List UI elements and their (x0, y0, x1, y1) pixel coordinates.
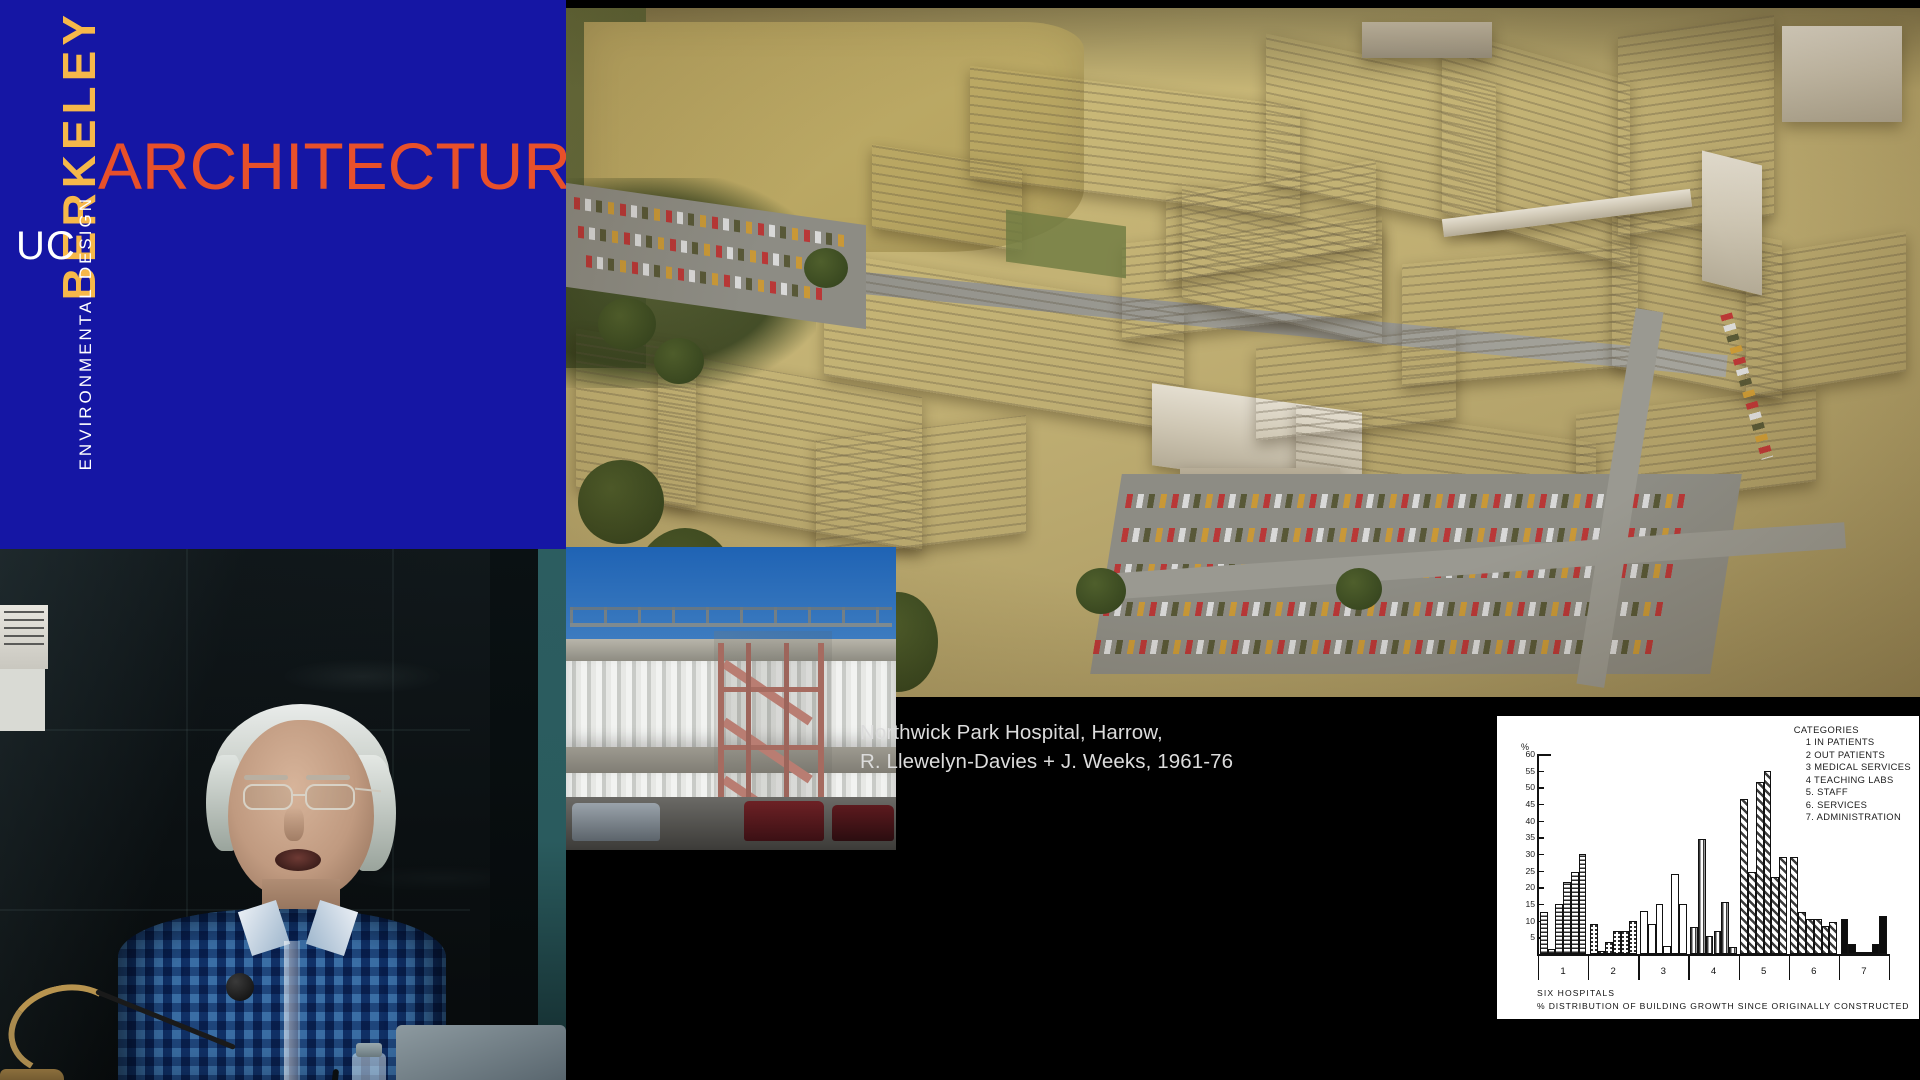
x-tick-label-1: 1 (1552, 966, 1574, 977)
x-tick (1739, 954, 1740, 980)
x-tick (1839, 954, 1840, 980)
chart-bar (1540, 912, 1548, 954)
parked-car (832, 805, 894, 841)
y-tick-label: 40 (1513, 816, 1535, 826)
chart-bars (1538, 754, 1889, 954)
chart-bar (1679, 904, 1687, 954)
chart-bar (1829, 922, 1837, 954)
x-tick-label-2: 2 (1602, 966, 1624, 977)
chart-bar (1698, 839, 1706, 954)
chart-bar (1779, 857, 1787, 954)
tree (598, 298, 656, 350)
laptop-lid (396, 1025, 566, 1080)
y-tick-label: 10 (1513, 916, 1535, 926)
chart-bar (1740, 799, 1748, 954)
chart-bar (1872, 944, 1880, 954)
legend-title: CATEGORIES (1794, 724, 1911, 735)
parked-cars-row (1093, 640, 1655, 654)
chart-bar (1663, 946, 1671, 954)
hospital-block (816, 415, 1026, 559)
x-axis-line (1537, 954, 1889, 956)
eyeglasses-bridge (293, 794, 305, 796)
presentation-slide-area: Northwick Park Hospital, Harrow, R. Llew… (566, 0, 1920, 1080)
x-tick (1688, 954, 1689, 980)
y-tick-label: 45 (1513, 799, 1535, 809)
teal-door-strip (538, 549, 566, 1080)
chart-bar (1621, 931, 1629, 954)
chart-bar (1879, 916, 1887, 954)
chart-bar (1714, 931, 1722, 954)
x-tick-label-4: 4 (1703, 966, 1725, 977)
x-tick (1538, 954, 1539, 980)
chart-bar (1629, 921, 1637, 954)
brand-environmental-design-text: ENVIRONMENTAL DESIGN (76, 196, 96, 470)
stair-landing (718, 745, 824, 750)
y-tick-label: 35 (1513, 832, 1535, 842)
chart-bar (1771, 877, 1779, 954)
y-tick-label: 60 (1513, 749, 1535, 759)
hospital-block (1362, 22, 1492, 58)
caption-line-2: R. Llewelyn-Davies + J. Weeks, 1961-76 (860, 747, 1340, 776)
chart-bar (1856, 952, 1864, 954)
tree (578, 460, 664, 544)
wall-sign-paper (0, 605, 48, 669)
y-tick-label: 50 (1513, 782, 1535, 792)
chart-bar (1841, 919, 1849, 954)
hospital-block (1746, 231, 1906, 396)
speaker-eyebrow-left (244, 775, 288, 780)
chart-bar (1706, 936, 1714, 954)
slide-caption: Northwick Park Hospital, Harrow, R. Llew… (860, 718, 1340, 776)
screen-capture: BERKELEY UC ENVIRONMENTAL DESIGN ARCHITE… (0, 0, 1920, 1080)
lawn (1006, 210, 1126, 279)
chart-bar (1864, 952, 1872, 954)
chart-inner: CATEGORIES 1 IN PATIENTS2 OUT PATIENTS3 … (1497, 716, 1919, 1019)
wall-sign-white (0, 669, 45, 731)
parked-cars-row (1125, 494, 1687, 508)
tree (654, 338, 704, 384)
chart-bar (1671, 874, 1679, 954)
stair-landing (718, 687, 824, 692)
car-park-foreground (566, 797, 896, 850)
chart-bar (1571, 872, 1579, 954)
x-tick (1638, 954, 1639, 980)
chart-bar (1814, 919, 1822, 954)
legend-item-1: 1 IN PATIENTS (1794, 736, 1911, 749)
y-tick-label: 55 (1513, 766, 1535, 776)
microphone-base (0, 1069, 64, 1080)
roof-railing (570, 607, 892, 610)
y-tick-label: 25 (1513, 866, 1535, 876)
brand-uc-text: UC (16, 224, 76, 269)
tree (1076, 568, 1126, 614)
water-bottle (352, 1053, 386, 1080)
chart-bar (1613, 931, 1621, 954)
link-bridge (1702, 151, 1762, 296)
x-tick-label-5: 5 (1753, 966, 1775, 977)
microphone-capsule (226, 973, 254, 1001)
speaker-video-feed (0, 549, 566, 1080)
x-tick-label-6: 6 (1803, 966, 1825, 977)
brand-architecture-text: ARCHITECTURE (98, 133, 566, 199)
shirt-placket (284, 941, 300, 1080)
tree (804, 248, 848, 288)
speaker-mouth (275, 849, 321, 871)
chart-bar (1656, 904, 1664, 954)
dark-door-panel (490, 549, 538, 1080)
chart-bar (1648, 924, 1656, 954)
hospital-block (1782, 26, 1902, 122)
chart-bar (1690, 927, 1698, 954)
x-tick-label-3: 3 (1652, 966, 1674, 977)
chart-subtitle: % DISTRIBUTION OF BUILDING GROWTH SINCE … (1537, 1001, 1909, 1011)
x-tick (1889, 954, 1890, 980)
parked-cars-row (1103, 602, 1665, 616)
chart-bar (1798, 912, 1806, 954)
x-tick-label-7: 7 (1853, 966, 1875, 977)
uc-berkeley-brand-panel: BERKELEY UC ENVIRONMENTAL DESIGN ARCHITE… (0, 0, 566, 549)
building-growth-chart: CATEGORIES 1 IN PATIENTS2 OUT PATIENTS3 … (1497, 716, 1919, 1019)
chart-bar (1756, 782, 1764, 954)
chart-bar (1822, 926, 1830, 954)
hospital-facade-photo (566, 547, 896, 850)
caption-line-1: Northwick Park Hospital, Harrow, (860, 718, 1340, 747)
speaker-eyebrow-right (306, 775, 350, 780)
tree (1336, 568, 1382, 610)
y-tick-label: 5 (1513, 932, 1535, 942)
chart-bar (1579, 854, 1587, 954)
chart-bar (1563, 882, 1571, 954)
chart-bar (1590, 924, 1598, 954)
parked-car (572, 803, 660, 841)
y-tick-label: 30 (1513, 849, 1535, 859)
roof-railing (570, 623, 892, 627)
x-tick (1789, 954, 1790, 980)
chart-bar (1806, 919, 1814, 954)
chart-bar (1764, 771, 1772, 954)
chart-bar (1748, 872, 1756, 954)
chart-bar (1848, 944, 1856, 954)
chart-bar (1790, 857, 1798, 954)
water-bottle-cap (356, 1043, 382, 1057)
chart-bar (1640, 911, 1648, 954)
chart-bar (1721, 902, 1729, 954)
chart-bar (1598, 951, 1606, 954)
chart-footer: SIX HOSPITALS % DISTRIBUTION OF BUILDING… (1537, 988, 1909, 1011)
eyeglasses-right-lens (305, 784, 355, 810)
eyeglasses-left-lens (243, 784, 293, 810)
y-tick-label: 20 (1513, 882, 1535, 892)
y-tick-label: 15 (1513, 899, 1535, 909)
chart-bar (1555, 904, 1563, 954)
speaker-nose (284, 807, 304, 841)
chart-bar (1548, 949, 1556, 954)
chart-bar (1605, 942, 1613, 954)
x-tick (1588, 954, 1589, 980)
chart-bar (1729, 947, 1737, 954)
parked-car (744, 801, 824, 841)
chart-title: SIX HOSPITALS (1537, 988, 1909, 998)
